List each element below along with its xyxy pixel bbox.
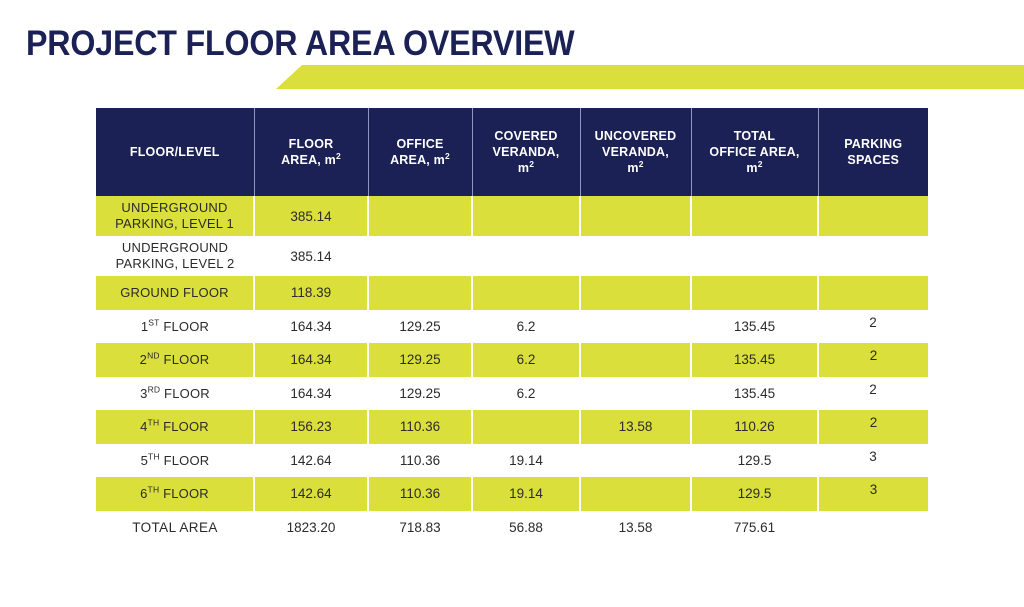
square-superscript: 2	[639, 159, 644, 169]
table-row: 1ST FLOOR164.34129.256.2135.452	[96, 310, 928, 344]
column-header-line: AREA, m2	[281, 153, 341, 167]
table-row: 3RD FLOOR164.34129.256.2135.452	[96, 377, 928, 411]
table-row: 4TH FLOOR156.23110.3613.58110.262	[96, 410, 928, 444]
cell-floor_area: 142.64	[254, 444, 368, 478]
cell-floor_area: 156.23	[254, 410, 368, 444]
ordinal-superscript: TH	[148, 418, 160, 428]
cell-uncovered_veranda	[580, 377, 691, 411]
cell-floor_area: 142.64	[254, 477, 368, 511]
table-header: FLOOR/LEVELFLOORAREA, m2OFFICEAREA, m2CO…	[96, 108, 928, 196]
row-label: 6TH FLOOR	[96, 477, 254, 511]
cell-total_office_area: 135.45	[691, 343, 818, 377]
cell-covered_veranda: 6.2	[472, 377, 580, 411]
cell-office_area	[368, 236, 472, 276]
column-header-line: m2	[627, 161, 643, 175]
cell-parking_spaces: 2	[818, 343, 928, 377]
cell-uncovered_veranda: 13.58	[580, 410, 691, 444]
cell-office_area: 129.25	[368, 343, 472, 377]
parking-count: 2	[870, 348, 878, 363]
cell-uncovered_veranda	[580, 343, 691, 377]
cell-total_office_area: 135.45	[691, 377, 818, 411]
column-header-floor_area: FLOORAREA, m2	[254, 108, 368, 196]
table-row: 2ND FLOOR164.34129.256.2135.452	[96, 343, 928, 377]
cell-parking_spaces: 2	[818, 310, 928, 344]
cell-office_area: 129.25	[368, 377, 472, 411]
table-header-row: FLOOR/LEVELFLOORAREA, m2OFFICEAREA, m2CO…	[96, 108, 928, 196]
cell-office_area: 110.36	[368, 477, 472, 511]
cell-total_office_area: 129.5	[691, 444, 818, 478]
cell-covered_veranda	[472, 196, 580, 236]
cell-parking_spaces: 2	[818, 377, 928, 411]
row-label: 2ND FLOOR	[96, 343, 254, 377]
column-header-line: COVERED	[494, 129, 557, 143]
cell-floor_area: 385.14	[254, 236, 368, 276]
ordinal-superscript: TH	[148, 451, 160, 461]
row-label: 4TH FLOOR	[96, 410, 254, 444]
square-superscript: 2	[336, 151, 341, 161]
cell-covered_veranda: 19.14	[472, 444, 580, 478]
parking-count: 2	[869, 315, 877, 330]
cell-office_area: 110.36	[368, 410, 472, 444]
row-label: GROUND FLOOR	[96, 276, 254, 310]
cell-total_office_area	[691, 236, 818, 276]
ordinal-superscript: TH	[148, 485, 160, 495]
square-superscript: 2	[445, 151, 450, 161]
table-row: GROUND FLOOR118.39	[96, 276, 928, 310]
cell-uncovered_veranda	[580, 276, 691, 310]
cell-uncovered_veranda	[580, 477, 691, 511]
column-header-total_office_area: TOTALOFFICE AREA,m2	[691, 108, 818, 196]
row-label: 5TH FLOOR	[96, 444, 254, 478]
title-accent-banner	[276, 65, 1024, 89]
cell-parking_spaces: 2	[818, 410, 928, 444]
column-header-line: TOTAL	[734, 129, 776, 143]
parking-count: 3	[869, 449, 877, 464]
cell-floor_area: 164.34	[254, 343, 368, 377]
square-superscript: 2	[758, 159, 763, 169]
table-row: 5TH FLOOR142.64110.3619.14129.53	[96, 444, 928, 478]
cell-uncovered_veranda	[580, 310, 691, 344]
column-header-line: UNCOVERED	[595, 129, 677, 143]
cell-parking_spaces: 3	[818, 477, 928, 511]
cell-uncovered_veranda	[580, 444, 691, 478]
column-header-line: PARKING	[844, 137, 902, 151]
cell-office_area	[368, 196, 472, 236]
cell-total_office_area: 775.61	[691, 511, 818, 545]
cell-total_office_area	[691, 196, 818, 236]
cell-office_area: 129.25	[368, 310, 472, 344]
column-header-line: SPACES	[847, 153, 899, 167]
row-label: 1ST FLOOR	[96, 310, 254, 344]
ordinal-superscript: ST	[148, 317, 159, 327]
cell-covered_veranda: 6.2	[472, 310, 580, 344]
cell-floor_area: 1823.20	[254, 511, 368, 545]
row-label: 3RD FLOOR	[96, 377, 254, 411]
cell-floor_area: 164.34	[254, 310, 368, 344]
table-row: UNDERGROUNDPARKING, LEVEL 2385.14	[96, 236, 928, 276]
column-header-line: OFFICE	[396, 137, 443, 151]
cell-covered_veranda: 56.88	[472, 511, 580, 545]
table-body: UNDERGROUNDPARKING, LEVEL 1385.14UNDERGR…	[96, 196, 928, 544]
column-header-line: FLOOR	[289, 137, 334, 151]
table-row: TOTAL AREA1823.20718.8356.8813.58775.61	[96, 511, 928, 545]
cell-total_office_area: 110.26	[691, 410, 818, 444]
cell-parking_spaces	[818, 236, 928, 276]
title-block: PROJECT FLOOR AREA OVERVIEW	[0, 0, 1024, 100]
cell-covered_veranda	[472, 410, 580, 444]
cell-floor_area: 385.14	[254, 196, 368, 236]
parking-count: 3	[870, 482, 878, 497]
table-row: 6TH FLOOR142.64110.3619.14129.53	[96, 477, 928, 511]
cell-covered_veranda: 6.2	[472, 343, 580, 377]
column-header-covered_veranda: COVEREDVERANDA,m2	[472, 108, 580, 196]
cell-total_office_area: 129.5	[691, 477, 818, 511]
column-header-line: AREA, m2	[390, 153, 450, 167]
cell-total_office_area	[691, 276, 818, 310]
cell-floor_area: 164.34	[254, 377, 368, 411]
cell-office_area	[368, 276, 472, 310]
row-label: TOTAL AREA	[96, 511, 254, 545]
parking-count: 2	[870, 415, 878, 430]
cell-covered_veranda: 19.14	[472, 477, 580, 511]
column-header-line: OFFICE AREA,	[709, 145, 799, 159]
cell-uncovered_veranda	[580, 236, 691, 276]
ordinal-superscript: ND	[147, 351, 160, 361]
ordinal-superscript: RD	[148, 384, 161, 394]
cell-total_office_area: 135.45	[691, 310, 818, 344]
column-header-office_area: OFFICEAREA, m2	[368, 108, 472, 196]
cell-uncovered_veranda	[580, 196, 691, 236]
cell-covered_veranda	[472, 276, 580, 310]
table-grid: FLOOR/LEVELFLOORAREA, m2OFFICEAREA, m2CO…	[96, 108, 928, 544]
column-header-line: VERANDA,	[602, 145, 669, 159]
cell-parking_spaces	[818, 511, 928, 545]
cell-office_area: 718.83	[368, 511, 472, 545]
column-header-parking_spaces: PARKINGSPACES	[818, 108, 928, 196]
row-label: UNDERGROUNDPARKING, LEVEL 1	[96, 196, 254, 236]
column-header-line: VERANDA,	[493, 145, 560, 159]
floor-area-table: FLOOR/LEVELFLOORAREA, m2OFFICEAREA, m2CO…	[96, 108, 928, 544]
column-header-line: FLOOR/LEVEL	[130, 145, 220, 159]
column-header-floor_level: FLOOR/LEVEL	[96, 108, 254, 196]
parking-count: 2	[869, 382, 877, 397]
cell-office_area: 110.36	[368, 444, 472, 478]
cell-uncovered_veranda: 13.58	[580, 511, 691, 545]
column-header-line: m2	[746, 161, 762, 175]
cell-parking_spaces	[818, 276, 928, 310]
row-label: UNDERGROUNDPARKING, LEVEL 2	[96, 236, 254, 276]
column-header-uncovered_veranda: UNCOVEREDVERANDA,m2	[580, 108, 691, 196]
column-header-line: m2	[518, 161, 534, 175]
cell-floor_area: 118.39	[254, 276, 368, 310]
cell-parking_spaces: 3	[818, 444, 928, 478]
cell-covered_veranda	[472, 236, 580, 276]
page-title: PROJECT FLOOR AREA OVERVIEW	[26, 24, 574, 64]
table-row: UNDERGROUNDPARKING, LEVEL 1385.14	[96, 196, 928, 236]
square-superscript: 2	[529, 159, 534, 169]
cell-parking_spaces	[818, 196, 928, 236]
